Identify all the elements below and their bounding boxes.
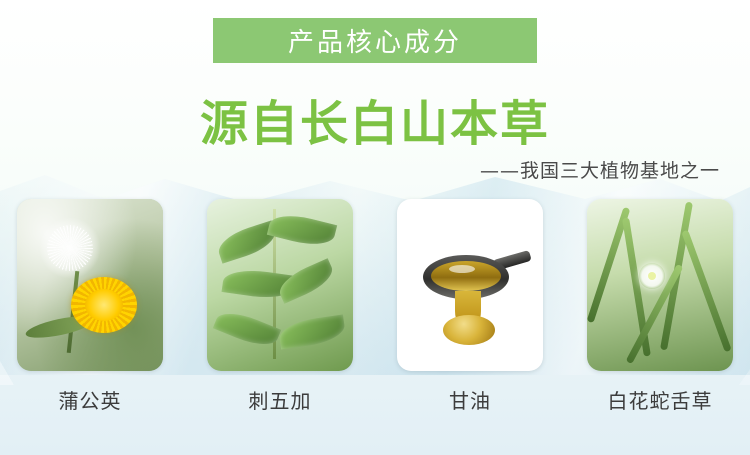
ingredient-card-hedyotis — [587, 199, 733, 371]
ingredient-label-acanthopanax: 刺五加 — [207, 379, 353, 423]
leaf-icon — [278, 315, 347, 350]
ingredient-card-glycerin — [397, 199, 543, 371]
banner-title: 产品核心成分 — [288, 22, 462, 59]
ingredient-card-list — [0, 199, 750, 379]
section-banner: 产品核心成分 — [213, 18, 537, 63]
ingredient-label-list: 蒲公英 刺五加 甘油 白花蛇舌草 — [0, 379, 750, 423]
headline-text: 源自长白山本草 — [0, 84, 750, 154]
spoon-highlight-icon — [449, 265, 475, 273]
glycerin-blob-icon — [443, 315, 495, 345]
ingredient-label-dandelion: 蒲公英 — [17, 379, 163, 423]
product-ingredients-banner: 产品核心成分 源自长白山本草 ——我国三大植物基地之一 — [0, 0, 750, 455]
ingredient-label-glycerin: 甘油 — [397, 379, 543, 423]
white-flower-icon — [639, 263, 665, 289]
leaf-icon — [267, 209, 337, 250]
dandelion-flower-icon — [71, 277, 137, 333]
ingredient-card-acanthopanax — [207, 199, 353, 371]
grass-blade-icon — [681, 230, 731, 353]
ingredient-label-hedyotis: 白花蛇舌草 — [587, 379, 733, 423]
dandelion-seedhead-icon — [39, 217, 101, 279]
ingredient-card-dandelion — [17, 199, 163, 371]
subheadline-text: ——我国三大植物基地之一 — [480, 156, 720, 183]
leaf-icon — [275, 258, 338, 304]
leaf-icon — [213, 306, 281, 352]
